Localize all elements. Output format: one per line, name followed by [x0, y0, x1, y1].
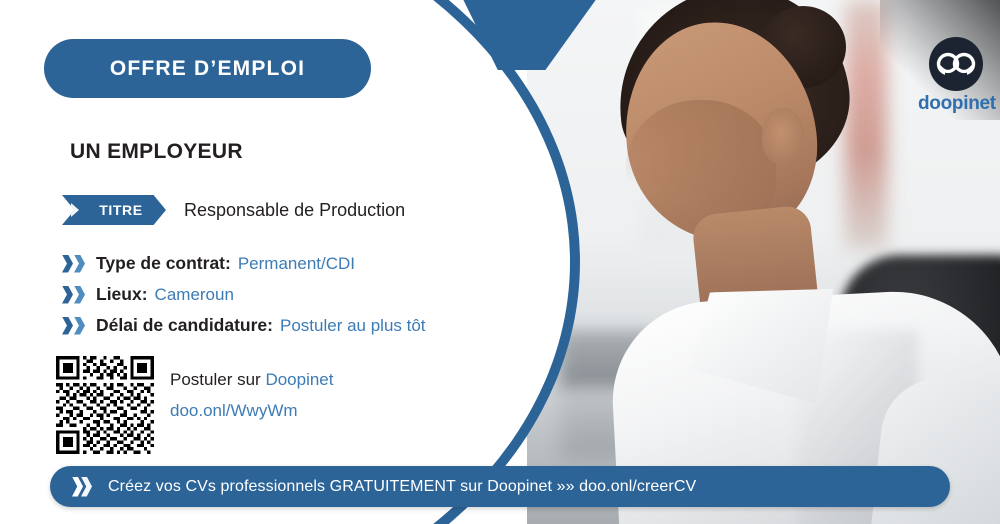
- detail-row-location: Lieux: Cameroun: [62, 279, 426, 310]
- apply-text-block: Postuler sur Doopinet doo.onl/WwyWm: [170, 356, 334, 421]
- detail-value: Postuler au plus tôt: [280, 316, 426, 336]
- offer-type-pill: OFFRE D’EMPLOI: [44, 39, 371, 98]
- apply-instruction: Postuler sur Doopinet: [170, 370, 334, 390]
- doopinet-logo: doopinet: [918, 36, 994, 114]
- detail-row-deadline: Délai de candidature: Postuler au plus t…: [62, 310, 426, 341]
- cv-promo-text: Créez vos CVs professionnels GRATUITEMEN…: [108, 478, 696, 496]
- double-chevron-right-icon: [72, 477, 98, 497]
- cv-promo-banner[interactable]: Créez vos CVs professionnels GRATUITEMEN…: [50, 466, 950, 507]
- titre-ribbon-badge: TITRE: [62, 195, 166, 225]
- chevron-right-icon: [71, 203, 79, 217]
- job-title-value: Responsable de Production: [184, 200, 405, 221]
- job-offer-poster: OFFRE D’EMPLOI UN EMPLOYEUR TITRE Respon…: [0, 0, 1000, 524]
- detail-row-contract: Type de contrat: Permanent/CDI: [62, 248, 426, 279]
- apply-short-url[interactable]: doo.onl/WwyWm: [170, 401, 334, 421]
- employer-name: UN EMPLOYEUR: [70, 140, 243, 164]
- double-chevron-right-icon: [62, 316, 92, 336]
- doopinet-infinity-circle-icon: [928, 36, 984, 92]
- job-title-row: TITRE Responsable de Production: [62, 195, 405, 225]
- qr-code[interactable]: [56, 356, 154, 454]
- double-chevron-right-icon: [62, 285, 92, 305]
- detail-label: Délai de candidature:: [96, 315, 273, 336]
- titre-badge-label: TITRE: [99, 202, 142, 218]
- apply-instruction-prefix: Postuler sur: [170, 370, 265, 389]
- doopinet-wordmark: doopinet: [918, 93, 994, 115]
- detail-value: Cameroun: [155, 285, 234, 305]
- job-details-list: Type de contrat: Permanent/CDI Lieux: Ca…: [62, 248, 426, 341]
- apply-brand-name: Doopinet: [265, 370, 333, 389]
- detail-value: Permanent/CDI: [238, 254, 355, 274]
- detail-label: Type de contrat:: [96, 253, 231, 274]
- offer-type-label: OFFRE D’EMPLOI: [110, 57, 305, 81]
- double-chevron-right-icon: [62, 254, 92, 274]
- detail-label: Lieux:: [96, 284, 148, 305]
- apply-block: Postuler sur Doopinet doo.onl/WwyWm: [56, 356, 334, 454]
